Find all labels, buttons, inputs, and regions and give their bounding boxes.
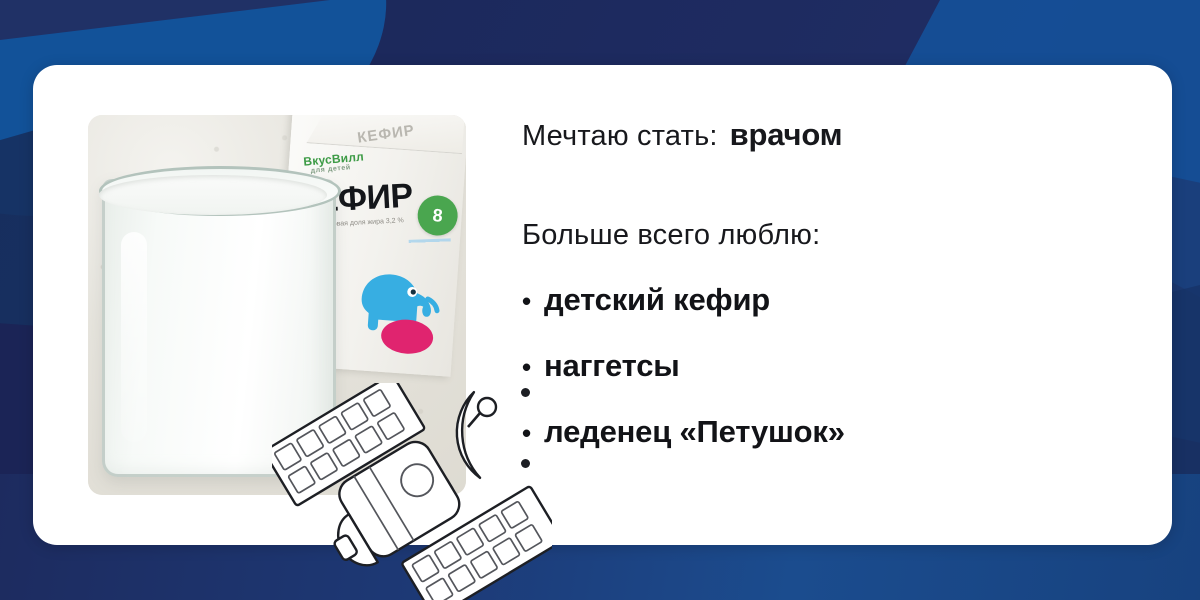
glass-highlight	[121, 232, 147, 442]
dream-line: Мечтаю стать:врачом	[522, 117, 1142, 153]
glass-of-kefir	[102, 179, 336, 477]
decor-dot-lower	[521, 459, 530, 468]
carton-age-badge: 8	[416, 194, 459, 237]
favorites-list: • детский кефир • наггетсы • леденец «Пе…	[522, 282, 1142, 450]
milk-surface	[99, 175, 327, 215]
slide-canvas: КЕФИР ВкусВилл для детей КЕФИР массовая …	[0, 0, 1200, 600]
kefir-photo: КЕФИР ВкусВилл для детей КЕФИР массовая …	[88, 115, 466, 495]
favorite-text: детский кефир	[544, 282, 770, 318]
bullet-icon: •	[522, 354, 544, 380]
list-item: • наггетсы	[522, 348, 1142, 384]
dream-label: Мечтаю стать:	[522, 120, 718, 152]
favorites-label: Больше всего люблю:	[522, 219, 1142, 252]
list-item: • детский кефир	[522, 282, 1142, 318]
text-column: Мечтаю стать:врачом Больше всего люблю: …	[522, 117, 1142, 480]
decor-dot-upper	[521, 388, 530, 397]
bullet-icon: •	[522, 420, 544, 446]
content-card: КЕФИР ВкусВилл для детей КЕФИР массовая …	[33, 65, 1172, 545]
favorite-text: леденец «Петушок»	[544, 414, 845, 450]
bullet-icon: •	[522, 288, 544, 314]
list-item: • леденец «Петушок»	[522, 414, 1142, 450]
favorite-text: наггетсы	[544, 348, 680, 384]
glass-rim	[99, 166, 341, 216]
dream-value: врачом	[730, 117, 843, 152]
